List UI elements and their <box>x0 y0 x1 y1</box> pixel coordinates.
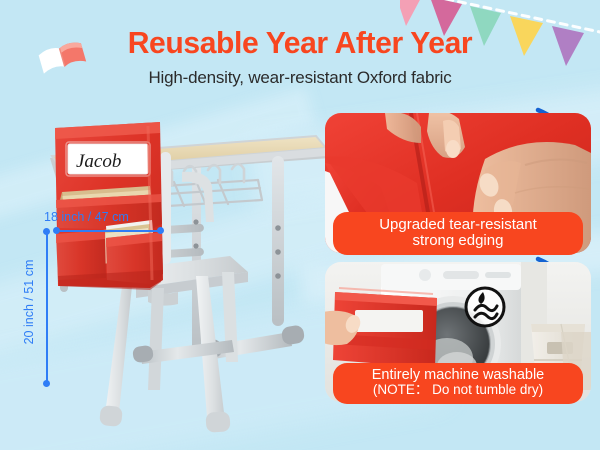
red-pocket-organizer: Jacob <box>55 122 163 290</box>
height-dimension-line <box>46 231 48 383</box>
product-scene: Jacob <box>0 100 330 450</box>
caption-line-2: (NOTE： Do not tumble dry) <box>337 383 579 398</box>
caption-line-1: Entirely machine washable <box>372 367 544 383</box>
caption-line-2: strong edging <box>413 232 504 249</box>
infographic-canvas: Reusable Year After Year High-density, w… <box>0 0 600 450</box>
page-subtitle: High-density, wear-resistant Oxford fabr… <box>0 68 600 88</box>
desk-chair-illustration: Jacob <box>0 100 330 450</box>
machine-washable-care-icon <box>466 288 504 326</box>
card-caption-tear-resistant: Upgraded tear-resistant strong edging <box>333 212 583 255</box>
dimension-endpoint-dot <box>43 228 50 235</box>
caption-line-1: Upgraded tear-resistant <box>379 216 537 233</box>
feature-card-tear-resistant[interactable]: Upgraded tear-resistant strong edging <box>325 113 591 253</box>
width-dimension-line <box>60 230 160 232</box>
dimension-endpoint-dot <box>43 380 50 387</box>
card-caption-machine-washable: Entirely machine washable (NOTE： Do not … <box>333 363 583 404</box>
width-dimension-label: 18 inch / 47 cm <box>44 210 129 224</box>
page-title: Reusable Year After Year <box>9 25 591 61</box>
header: Reusable Year After Year High-density, w… <box>0 0 600 100</box>
name-tag-text: Jacob <box>76 151 121 172</box>
dimension-endpoint-dot <box>53 227 60 234</box>
feature-card-machine-washable[interactable]: Entirely machine washable (NOTE： Do not … <box>325 262 591 402</box>
height-dimension-label: 20 inch / 51 cm <box>22 247 36 357</box>
dimension-endpoint-dot <box>157 227 164 234</box>
